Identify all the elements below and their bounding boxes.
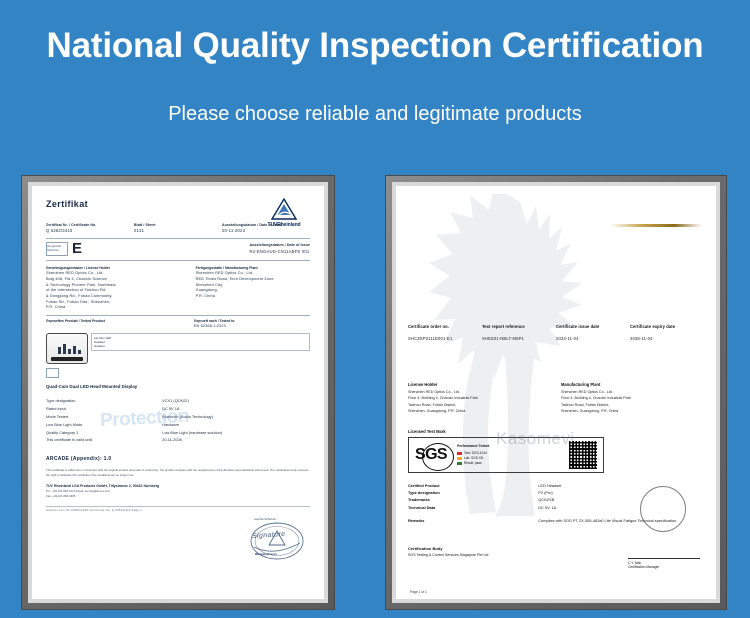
gs-code-label: Ausstellungsdatum / Date of Issue [250, 243, 310, 248]
tuv-party-blocks: Genehmigungsinhaber / License Holder She… [46, 266, 310, 311]
spec-value-1: DC 5V 1A [162, 405, 310, 413]
certificate-frame-tuv[interactable]: TUVRheinland Zertifikat Zertifikat Nr. /… [22, 176, 334, 609]
detail-keys: Certified Product Type designation Trade… [408, 482, 538, 524]
spec-value-0: VCX1 (QCK02) [162, 397, 310, 405]
sgs-value-issue-date: 2023-11-04 [556, 336, 630, 341]
sgs-value-expiry-date: 2028-11-04 [630, 336, 704, 341]
gs-mark-block: GS geprufte Sicherheit E Ausstellungsdat… [46, 242, 310, 256]
product-title: Quad-Cam Dual LED Head Mounted Display [46, 384, 310, 391]
meta-value-cert-no: Q 5262/3415 [46, 228, 134, 234]
performance-tested-title: Performance Tested [457, 444, 489, 448]
performance-tested-block: Performance Tested Test: 2023-1044 Lab: … [457, 444, 489, 466]
product-spec-list: Type designation VCX1 (QCK02) Rated inpu… [46, 397, 310, 444]
gold-embossed-line [610, 224, 702, 227]
checkbox-field[interactable] [46, 368, 59, 378]
meta-col-order-no: Certificate order no. SHCZKP2111E001-E1 [408, 324, 482, 341]
page-number: Page 1 of 1 [410, 590, 427, 594]
issuer-contact-1: Fax: +49 221 806-3935 [46, 494, 310, 499]
meta-value-sheet: 0131 [134, 228, 222, 234]
eagle-watermark [424, 194, 614, 524]
spec-row: Rated input DC 5V 1A [46, 405, 310, 413]
spec-row: Low Blue Light Mode Hardware [46, 421, 310, 429]
sgs-party-blocks: License Holder Shenzhen RED Optics Co., … [408, 382, 704, 414]
divider-2 [46, 260, 310, 261]
sgs-holder-line-3: Shenzhen, Guangdong, P.R. China [408, 408, 551, 414]
meta-col-issue-date: Certificate issue date 2023-11-04 [556, 324, 630, 341]
sgs-value-order-no: SHCZKP2111E001-E1 [408, 336, 482, 341]
tested-product-header: Geprueftes Produkt / Tested Product Gepr… [46, 319, 310, 330]
licensed-test-mark-block: Licensed Test Mark SGS Performance Teste… [408, 429, 604, 473]
signature-rule [628, 558, 700, 559]
spec-key-0: Type designation [46, 397, 162, 405]
sgs-header-issue-date: Certificate issue date [556, 324, 630, 329]
spec-row: Quality Category 1 Low Blue Light (hardw… [46, 429, 310, 437]
sgs-license-holder: License Holder Shenzhen RED Optics Co., … [408, 382, 551, 414]
spec-key-2: Mode Tested [46, 413, 162, 421]
detail-key-3: Technical Data [408, 504, 538, 511]
sgs-header-order-no: Certificate order no. [408, 324, 482, 329]
gs-mark-letter: E [72, 242, 82, 256]
detail-value-0: LED Headset [538, 482, 704, 489]
sgs-manufacturing-plant: Manufacturing Plant Shenzhen RED Optics … [561, 382, 704, 414]
seal-bottom-text: Managing Director [255, 553, 277, 557]
tested-product-label: Geprueftes Produkt / Tested Product [46, 319, 194, 330]
tuv-wordmark: TUVRheinland [260, 222, 308, 230]
spec-key-4: Quality Category 1 [46, 429, 162, 437]
meta-col-expiry-date: Certificate expiry date 2028-11-04 [630, 324, 704, 341]
tuv-footer-note: www.tuv.com ID 0000012345 Certificate No… [46, 506, 310, 513]
appendix-label: ARCADE (Appendix): 1.0 [46, 456, 310, 464]
certificate-paper-tuv: TUVRheinland Zertifikat Zertifikat Nr. /… [32, 186, 324, 599]
detail-key-4: Remarks [408, 517, 538, 524]
spec-row: Type designation VCX1 (QCK02) [46, 397, 310, 405]
detail-key-0: Certified Product [408, 482, 538, 489]
tuv-rheinland-logo: TUVRheinland [260, 198, 308, 230]
certificate-frame-sgs[interactable]: Certificate order no. SHCZKP2111E001-E1 … [386, 176, 726, 609]
gs-code-value: R2-ENGAUD-CN11ABFE 001 [250, 249, 310, 255]
caption-line-2: Headset [94, 344, 307, 348]
legal-fineprint: This certificate is valid only in connec… [46, 468, 310, 478]
detail-key-2: Trademarks [408, 496, 538, 503]
meta-col-report-ref: Test report reference SHEZ01-NBLT-M5P1 [482, 324, 556, 341]
product-photo-caption: Lite Run LED Headset Headset [91, 333, 310, 352]
sgs-header-expiry-date: Certificate expiry date [630, 324, 704, 329]
sgs-header-report-ref: Test report reference [482, 324, 556, 329]
signatory-title: Certification Manager [628, 565, 700, 569]
spec-value-3: Hardware [162, 421, 310, 429]
spec-key-1: Rated input [46, 405, 162, 413]
product-photo-shape [53, 343, 81, 354]
certificate-paper-sgs: Certificate order no. SHCZKP2111E001-E1 … [396, 186, 716, 599]
spec-row: Mode Tested Bluetooth (Audio Technology) [46, 413, 310, 421]
sgs-license-holder-label: License Holder [408, 382, 551, 387]
certificate-gallery: TUVRheinland Zertifikat Zertifikat Nr. /… [0, 176, 750, 618]
spec-value-2: Bluetooth (Audio Technology) [162, 413, 310, 421]
spec-key-5: This certificate is valid until [46, 436, 162, 444]
page-banner: National Quality Inspection Certificatio… [0, 0, 750, 160]
spec-value-5: 20-11-2028 [162, 436, 310, 444]
sgs-plant-label: Manufacturing Plant [561, 382, 704, 387]
test-mark-box: SGS Performance Tested Test: 2023-1044 L… [408, 437, 604, 473]
perf-bar-text-2: Result: pass [464, 461, 482, 466]
spec-key-3: Low Blue Light Mode [46, 421, 162, 429]
tested-product-photo [46, 333, 88, 364]
frame-mat-2: Certificate order no. SHCZKP2111E001-E1 … [392, 182, 720, 603]
tested-to-value: EN 62368-1:2023 [194, 324, 310, 330]
divider [46, 238, 310, 239]
certification-body-value: SGS Testing & Control Services Singapore… [408, 553, 488, 557]
sgs-plant-line-3: Shenzhen, Guangdong, P.R. China [561, 408, 704, 414]
spec-row: This certificate is valid until 20-11-20… [46, 436, 310, 444]
sgs-stamp-circle [640, 486, 686, 532]
product-photo-block: Lite Run LED Headset Headset [46, 333, 310, 364]
sgs-logo: SGS [415, 446, 450, 464]
gs-mark-icon: GS geprufte Sicherheit [46, 242, 68, 256]
qr-code[interactable] [569, 441, 597, 469]
detail-key-1: Type designation [408, 489, 538, 496]
frame-mat: TUVRheinland Zertifikat Zertifikat Nr. /… [28, 182, 328, 603]
certification-body-block: Certification Body SGS Testing & Control… [408, 546, 488, 557]
tuv-approval-seal: Geprufte Sicherheit Signature Managing D… [246, 517, 308, 565]
page-title: National Quality Inspection Certificatio… [0, 26, 750, 66]
plant-line-4: P.R. China [196, 294, 310, 300]
page-subtitle: Please choose reliable and legitimate pr… [0, 103, 750, 126]
sgs-value-report-ref: SHEZ01-NBLT-M5P1 [482, 336, 556, 341]
spec-value-4: Low Blue Light (hardware solution) [162, 429, 310, 437]
divider-3 [46, 315, 310, 316]
certification-banner-page: { "banner": { "title": "National Quality… [0, 0, 750, 618]
performance-bars: Test: 2023-1044 Lab: SGS CN Result: pass [457, 451, 489, 466]
product-photo-base [51, 357, 83, 361]
license-holder-line-6: P.R. China [46, 305, 192, 311]
seal-top-text: Geprufte Sicherheit [254, 518, 276, 522]
sgs-signature-block: C.Y. Mak Certification Manager [628, 558, 700, 569]
sgs-meta-row: Certificate order no. SHCZKP2111E001-E1 … [408, 324, 704, 341]
certification-body-label: Certification Body [408, 546, 488, 551]
licensed-test-mark-label: Licensed Test Mark [408, 429, 604, 434]
tuv-triangle-icon [271, 198, 297, 220]
